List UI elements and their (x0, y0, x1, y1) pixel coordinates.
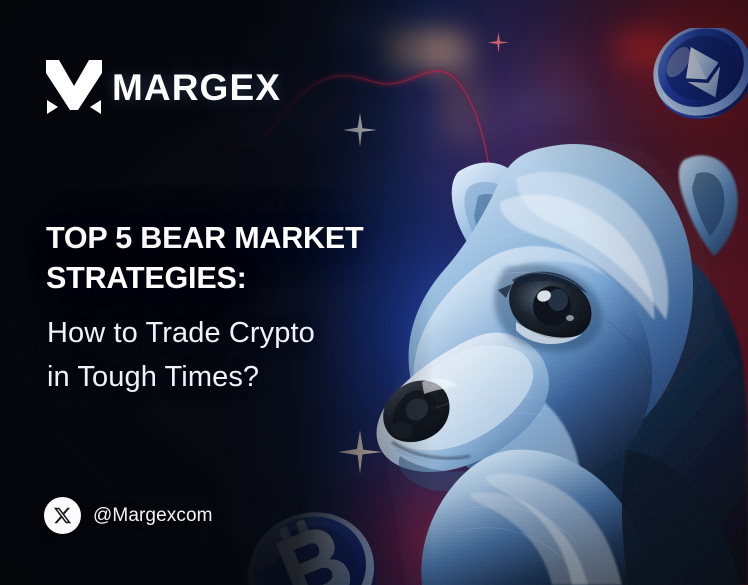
social-handle-text: @Margexcom (93, 505, 213, 527)
headline-line-2: STRATEGIES: (46, 261, 247, 295)
x-twitter-icon[interactable] (44, 497, 81, 534)
page-subtitle: How to Trade Crypto in Tough Times? (47, 311, 427, 399)
margex-m-logo-icon (45, 56, 103, 118)
margex-wordmark: MARGEX (112, 69, 281, 106)
margex-logo[interactable]: MARGEX (45, 56, 281, 118)
margex-promo-banner: MARGEX TOP 5 BEAR MARKET STRATEGIES: How… (0, 0, 748, 585)
headline-line-1: TOP 5 BEAR MARKET (46, 221, 363, 255)
subheadline-line-1: How to Trade Crypto (47, 311, 427, 355)
social-handle-group[interactable]: @Margexcom (44, 497, 213, 534)
page-title: TOP 5 BEAR MARKET STRATEGIES: (46, 219, 436, 299)
subheadline-line-2: in Tough Times? (47, 355, 427, 399)
